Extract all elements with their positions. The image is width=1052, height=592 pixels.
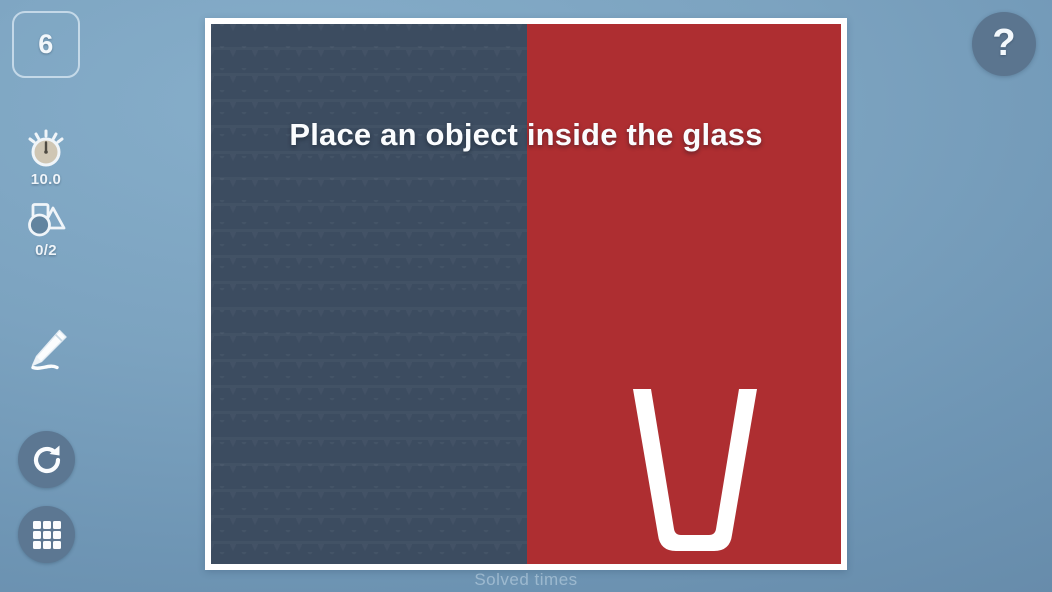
shapes-icon (0, 199, 92, 241)
solved-caption: Solved times (0, 570, 1052, 590)
levels-button[interactable] (18, 506, 75, 563)
glass-object (619, 389, 771, 564)
draw-tool-button[interactable] (18, 320, 75, 377)
left-panel-navy (211, 24, 527, 564)
stopwatch-icon (0, 128, 92, 170)
pencil-icon (19, 321, 75, 377)
objects-stat: 0/2 (0, 199, 92, 259)
restart-icon (29, 442, 65, 478)
restart-button[interactable] (18, 431, 75, 488)
game-screen: 6 10.0 (0, 0, 1052, 592)
play-area-frame: Place an object inside the glass (205, 18, 847, 570)
help-button[interactable]: ? (972, 12, 1036, 76)
task-instruction: Place an object inside the glass (211, 117, 841, 153)
play-area[interactable]: Place an object inside the glass (211, 24, 841, 564)
question-mark-icon: ? (992, 24, 1015, 62)
level-indicator: 6 (12, 11, 80, 78)
level-number: 6 (38, 29, 54, 60)
grid-icon (30, 518, 64, 552)
objects-value: 0/2 (0, 242, 92, 259)
timer-stat: 10.0 (0, 128, 92, 188)
timer-value: 10.0 (0, 171, 92, 188)
